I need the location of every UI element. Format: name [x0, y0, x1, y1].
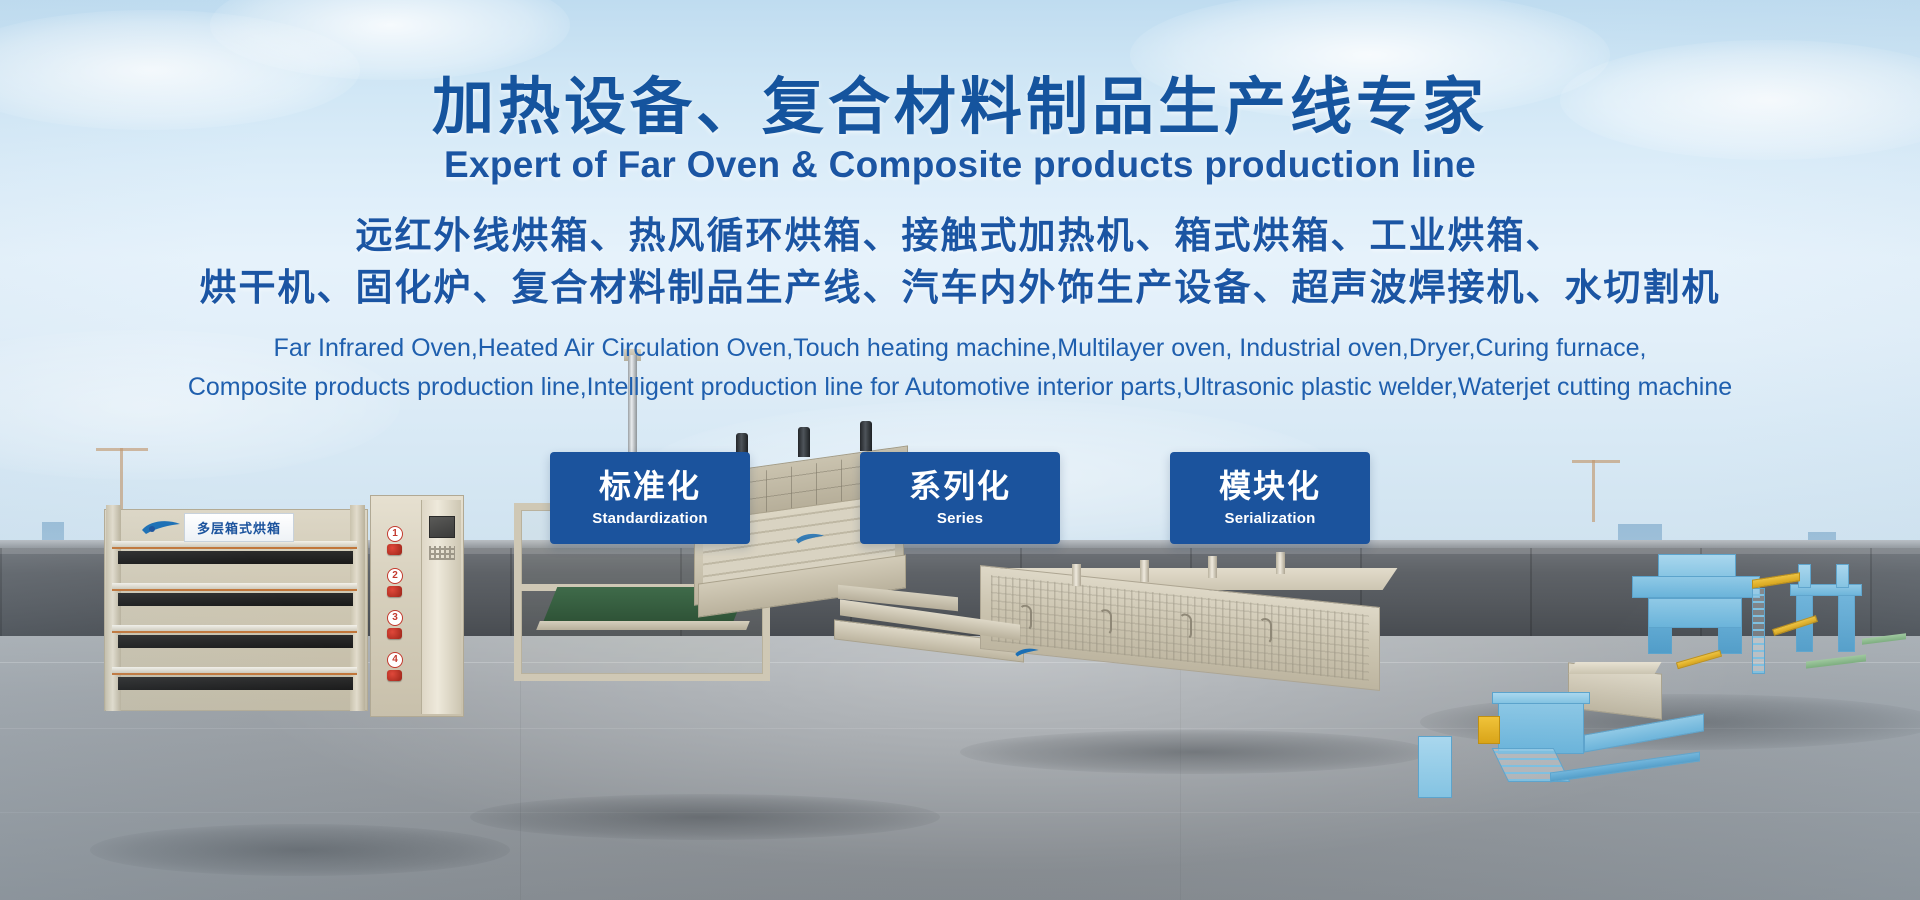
- subhead-chinese-line-2: 烘干机、固化炉、复合材料制品生产线、汽车内外饰生产设备、超声波焊接机、水切割机: [0, 262, 1920, 315]
- blue-gantry-post: [1836, 564, 1849, 588]
- tunnel-oven-stack: [1140, 560, 1149, 582]
- shelf-number-badge: 4: [387, 652, 403, 668]
- description-english-line-2: Composite products production line,Intel…: [0, 368, 1920, 407]
- headline-chinese: 加热设备、复合材料制品生产线专家: [0, 74, 1920, 139]
- machine-tunnel-oven: [980, 568, 1400, 708]
- oven-shelf: [112, 583, 357, 591]
- blue-press-table: [1632, 576, 1760, 598]
- oven-shelf: [112, 667, 357, 675]
- headline-english: Expert of Far Oven & Composite products …: [0, 145, 1920, 186]
- subhead-chinese-line-1: 远红外线烘箱、热风循环烘箱、接触式加热机、箱式烘箱、工业烘箱、: [0, 210, 1920, 263]
- blue-platform-deck: [1492, 692, 1590, 704]
- tunnel-oven-port: [1099, 608, 1112, 635]
- green-transfer-track: [1806, 654, 1866, 668]
- blue-gantry-leg: [1838, 590, 1855, 652]
- blue-conveyor: [1584, 713, 1704, 752]
- badge-label-cn: 模块化: [1219, 469, 1321, 504]
- shelf-number-badge: 2: [387, 568, 403, 584]
- badge-standardization[interactable]: 标准化 Standardization: [550, 452, 750, 544]
- blue-access-ladder: [1752, 588, 1765, 674]
- shelf-knob-3[interactable]: [387, 628, 402, 639]
- shelf-number-badge: 3: [387, 610, 403, 626]
- secondary-beige-oven-roof: [1569, 662, 1662, 674]
- blue-conveyor-rail: [1550, 751, 1700, 782]
- blue-platform: [1498, 698, 1584, 754]
- cabinet-vent-icon: [429, 546, 455, 560]
- shelf-knob-4[interactable]: [387, 670, 402, 681]
- green-transfer-track: [1862, 633, 1906, 644]
- subhead-chinese: 远红外线烘箱、热风循环烘箱、接触式加热机、箱式烘箱、工业烘箱、 烘干机、固化炉、…: [0, 210, 1920, 315]
- description-english: Far Infrared Oven,Heated Air Circulation…: [0, 329, 1920, 407]
- brand-logo-icon: [1014, 646, 1040, 658]
- blue-press-body: [1648, 598, 1742, 628]
- badge-label-cn: 系列化: [909, 469, 1011, 504]
- tunnel-oven-port: [1179, 613, 1192, 640]
- oven-chamber: [118, 635, 353, 648]
- tunnel-oven-stack: [1276, 552, 1285, 574]
- yellow-machine-unit: [1478, 716, 1500, 744]
- oven-shelf: [112, 625, 357, 633]
- badge-series[interactable]: 系列化 Series: [860, 452, 1060, 544]
- badge-label-en: Standardization: [592, 510, 708, 527]
- blue-storage-box: [1418, 736, 1452, 798]
- description-english-line-1: Far Infrared Oven,Heated Air Circulation…: [0, 329, 1920, 368]
- yellow-robot-arm: [1676, 650, 1722, 669]
- oven-chamber: [118, 677, 353, 690]
- tunnel-oven-port: [1019, 604, 1032, 631]
- machine-automation-line: [1400, 548, 1920, 848]
- badge-label-cn: 标准化: [599, 469, 701, 504]
- badge-label-en: Series: [937, 510, 983, 527]
- shelf-knob-2[interactable]: [387, 586, 402, 597]
- feature-badges: 标准化 Standardization 系列化 Series 模块化 Seria…: [0, 452, 1920, 544]
- oven-chamber: [118, 551, 353, 564]
- tunnel-oven-stack: [1072, 564, 1081, 586]
- banner-text-block: 加热设备、复合材料制品生产线专家 Expert of Far Oven & Co…: [0, 0, 1920, 406]
- tunnel-oven-port: [1259, 617, 1272, 644]
- badge-serialization[interactable]: 模块化 Serialization: [1170, 452, 1370, 544]
- tunnel-oven-stack: [1208, 556, 1217, 578]
- press-cylinder: [860, 421, 872, 451]
- badge-label-en: Serialization: [1225, 510, 1316, 527]
- press-belt-edge: [536, 621, 750, 630]
- shelf-knob-1[interactable]: [387, 544, 402, 555]
- oven-chamber: [118, 593, 353, 606]
